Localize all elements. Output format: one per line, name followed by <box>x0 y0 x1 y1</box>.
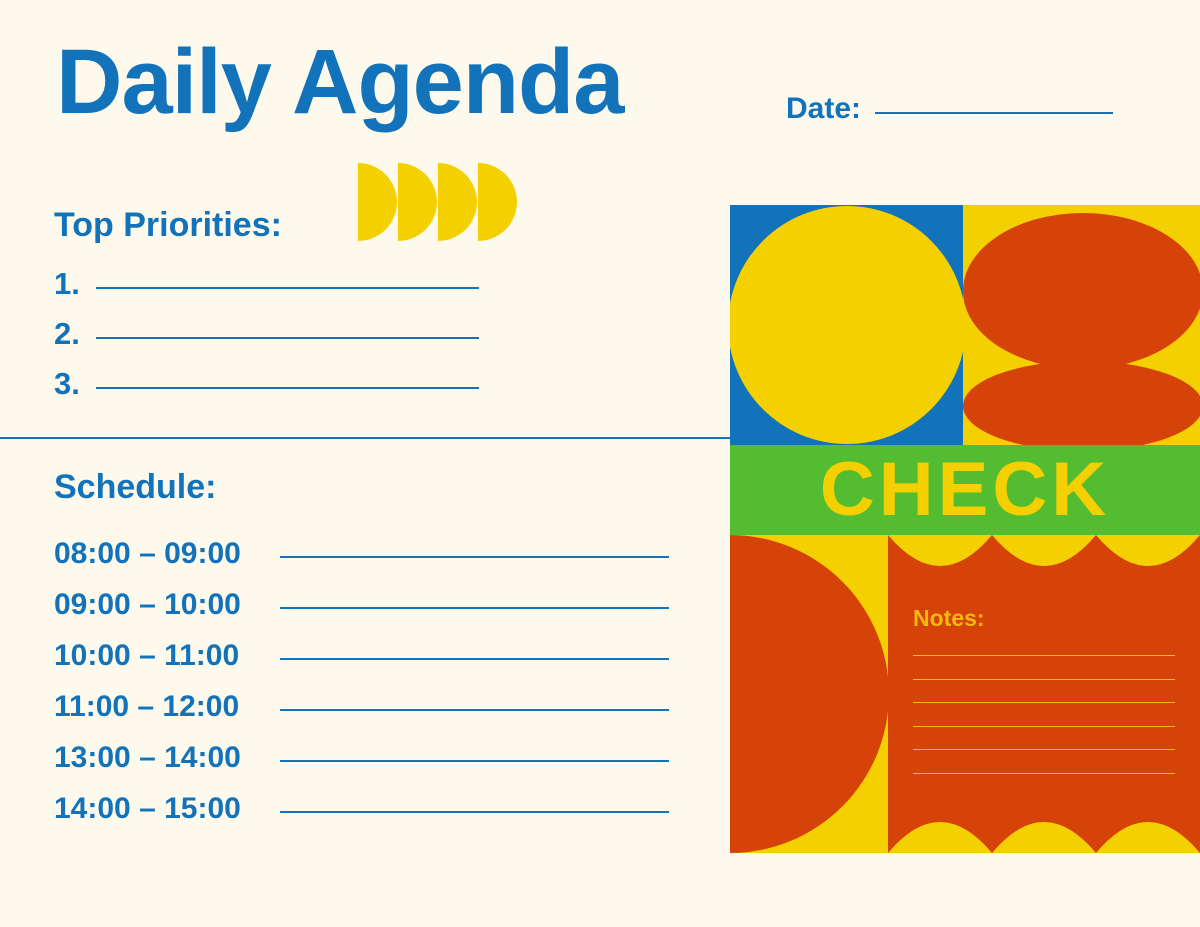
notes-write-line[interactable] <box>913 726 1175 727</box>
priority-write-line[interactable] <box>96 387 479 389</box>
schedule-time: 09:00 – 10:00 <box>54 588 266 622</box>
priority-write-line[interactable] <box>96 337 479 339</box>
schedule-write-line[interactable] <box>280 811 669 813</box>
priority-number: 1. <box>54 266 84 302</box>
schedule-time: 11:00 – 12:00 <box>54 690 266 724</box>
schedule-row[interactable]: 10:00 – 11:00 <box>54 639 669 690</box>
notes-heading: Notes: <box>913 605 985 632</box>
schedule-write-line[interactable] <box>280 607 669 609</box>
notes-lines <box>913 655 1175 796</box>
schedule-list: 08:00 – 09:00 09:00 – 10:00 10:00 – 11:0… <box>54 537 669 843</box>
half-moon-icon <box>398 163 437 241</box>
half-moon-icon <box>438 163 477 241</box>
schedule-row[interactable]: 13:00 – 14:00 <box>54 741 669 792</box>
schedule-time: 13:00 – 14:00 <box>54 741 266 775</box>
schedule-time: 10:00 – 11:00 <box>54 639 266 673</box>
schedule-row[interactable]: 14:00 – 15:00 <box>54 792 669 843</box>
schedule-heading: Schedule: <box>54 468 216 507</box>
half-moon-decoration <box>358 163 533 241</box>
check-banner: CHECK <box>730 445 1200 535</box>
schedule-write-line[interactable] <box>280 709 669 711</box>
date-label: Date: <box>786 92 861 126</box>
notes-write-line[interactable] <box>913 679 1175 680</box>
schedule-row[interactable]: 09:00 – 10:00 <box>54 588 669 639</box>
priority-row[interactable]: 3. <box>54 366 484 416</box>
schedule-time: 08:00 – 09:00 <box>54 537 266 571</box>
top-priorities-list: 1. 2. 3. <box>54 266 484 416</box>
notes-write-line[interactable] <box>913 702 1175 703</box>
schedule-time: 14:00 – 15:00 <box>54 792 266 826</box>
page-title: Daily Agenda <box>56 36 623 128</box>
priority-number: 2. <box>54 316 84 352</box>
agenda-page: Daily Agenda Date: Top Priorities: 1. 2.… <box>0 0 1200 927</box>
top-priorities-heading: Top Priorities: <box>54 206 282 245</box>
schedule-write-line[interactable] <box>280 760 669 762</box>
schedule-write-line[interactable] <box>280 556 669 558</box>
notes-write-line[interactable] <box>913 655 1175 656</box>
priority-row[interactable]: 2. <box>54 316 484 366</box>
half-moon-icon <box>478 163 517 241</box>
notes-write-line[interactable] <box>913 773 1175 774</box>
date-field[interactable]: Date: <box>786 92 1113 126</box>
schedule-row[interactable]: 08:00 – 09:00 <box>54 537 669 588</box>
date-write-line[interactable] <box>875 112 1113 114</box>
priority-number: 3. <box>54 366 84 402</box>
orange-ellipse-shape <box>963 361 1200 451</box>
priority-write-line[interactable] <box>96 287 479 289</box>
schedule-write-line[interactable] <box>280 658 669 660</box>
priority-row[interactable]: 1. <box>54 266 484 316</box>
decorative-artwork-panel: CHECK Notes: <box>730 205 1200 853</box>
orange-ellipse-shape <box>963 213 1200 369</box>
yellow-circle-shape <box>730 206 966 444</box>
check-banner-text: CHECK <box>820 452 1110 528</box>
notes-write-line[interactable] <box>913 749 1175 750</box>
schedule-row[interactable]: 11:00 – 12:00 <box>54 690 669 741</box>
half-moon-icon <box>358 163 397 241</box>
